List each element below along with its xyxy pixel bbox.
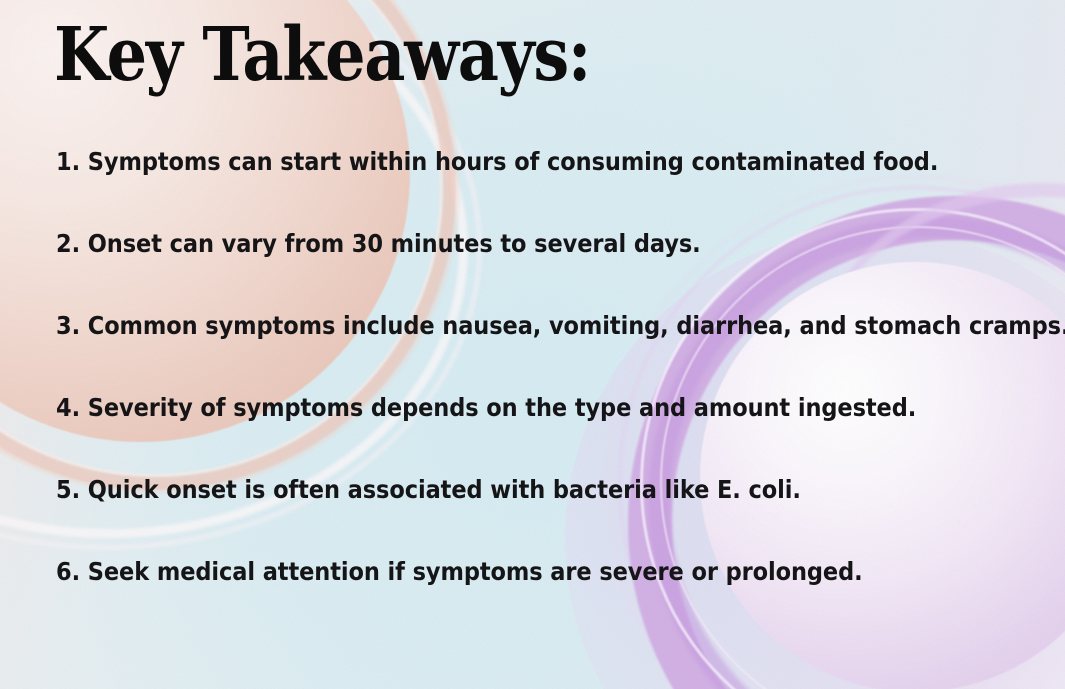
page-title: Key Takeaways: — [54, 18, 590, 92]
list-item: 4. Severity of symptoms depends on the t… — [56, 394, 920, 421]
list-item: 6. Seek medical attention if symptoms ar… — [56, 558, 920, 585]
list-item: 2. Onset can vary from 30 minutes to sev… — [56, 230, 920, 257]
key-takeaways-poster: Key Takeaways: 1. Symptoms can start wit… — [0, 0, 1065, 689]
takeaways-list: 1. Symptoms can start within hours of co… — [56, 148, 1016, 585]
list-item: 1. Symptoms can start within hours of co… — [56, 148, 920, 175]
poster-content: Key Takeaways: 1. Symptoms can start wit… — [0, 0, 1065, 689]
list-item: 5. Quick onset is often associated with … — [56, 476, 920, 503]
list-item: 3. Common symptoms include nausea, vomit… — [56, 312, 920, 339]
